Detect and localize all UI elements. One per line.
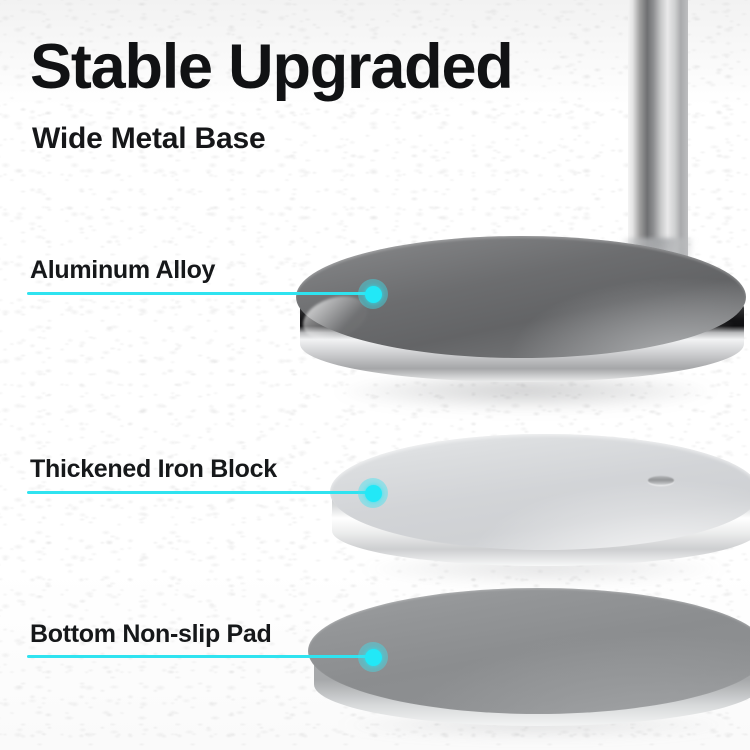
product-feature-image: Stable Upgraded Wide Metal Base Aluminum… bbox=[0, 0, 750, 750]
page-subtitle: Wide Metal Base bbox=[32, 124, 265, 154]
callout-label-thickened-iron-block: Thickened Iron Block bbox=[30, 457, 277, 482]
cyan-dot-marker-bottom-non-slip-pad bbox=[358, 642, 388, 672]
aluminum-alloy-disc bbox=[296, 236, 746, 396]
thickened-iron-block-disc bbox=[330, 434, 750, 574]
cyan-dot-marker-thickened-iron-block bbox=[358, 478, 388, 508]
callout-label-aluminum-alloy: Aluminum Alloy bbox=[30, 258, 215, 283]
callout-line-thickened-iron-block bbox=[27, 491, 375, 494]
callout-label-bottom-non-slip-pad: Bottom Non-slip Pad bbox=[30, 622, 272, 647]
callout-line-aluminum-alloy bbox=[27, 292, 375, 295]
screw-hole-icon bbox=[648, 476, 674, 485]
iron-block-disc-surface bbox=[330, 434, 750, 550]
page-title: Stable Upgraded bbox=[30, 36, 513, 99]
callout-line-bottom-non-slip-pad bbox=[27, 655, 375, 658]
cyan-dot-marker-aluminum-alloy bbox=[358, 279, 388, 309]
